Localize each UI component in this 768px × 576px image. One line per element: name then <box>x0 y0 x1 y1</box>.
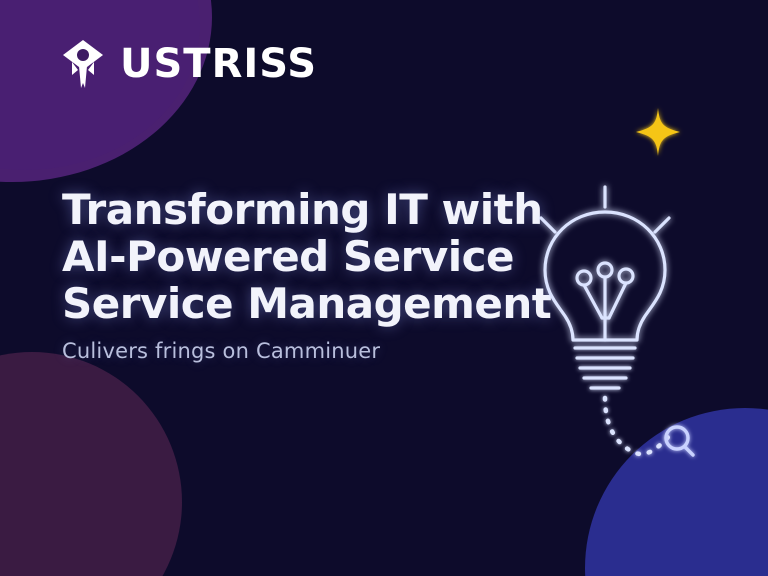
brand-name: USTRISS <box>120 44 317 84</box>
decor-circle-bottom-left <box>0 352 182 576</box>
magnifying-glass-icon <box>666 427 693 455</box>
bulb-base-icon <box>575 348 635 388</box>
brand-logo[interactable]: USTRISS <box>58 36 317 92</box>
headline-line-2: AI-Powered Service <box>62 233 582 280</box>
dotted-curve-path-icon <box>605 398 671 454</box>
headline-block: Transforming IT with AI-Powered Service … <box>62 186 582 363</box>
headline-line-1: Transforming IT with <box>62 186 582 233</box>
promo-banner: USTRISS Transforming IT with AI-Powered … <box>0 0 768 576</box>
headline-line-3: Service Management <box>62 280 582 327</box>
lightbulb-icon <box>541 187 669 340</box>
subtitle-text: Culivers frings on Camminuer <box>62 339 582 363</box>
lightbulb-illustration <box>505 90 735 460</box>
diamond-rocket-logo-icon <box>58 38 108 90</box>
